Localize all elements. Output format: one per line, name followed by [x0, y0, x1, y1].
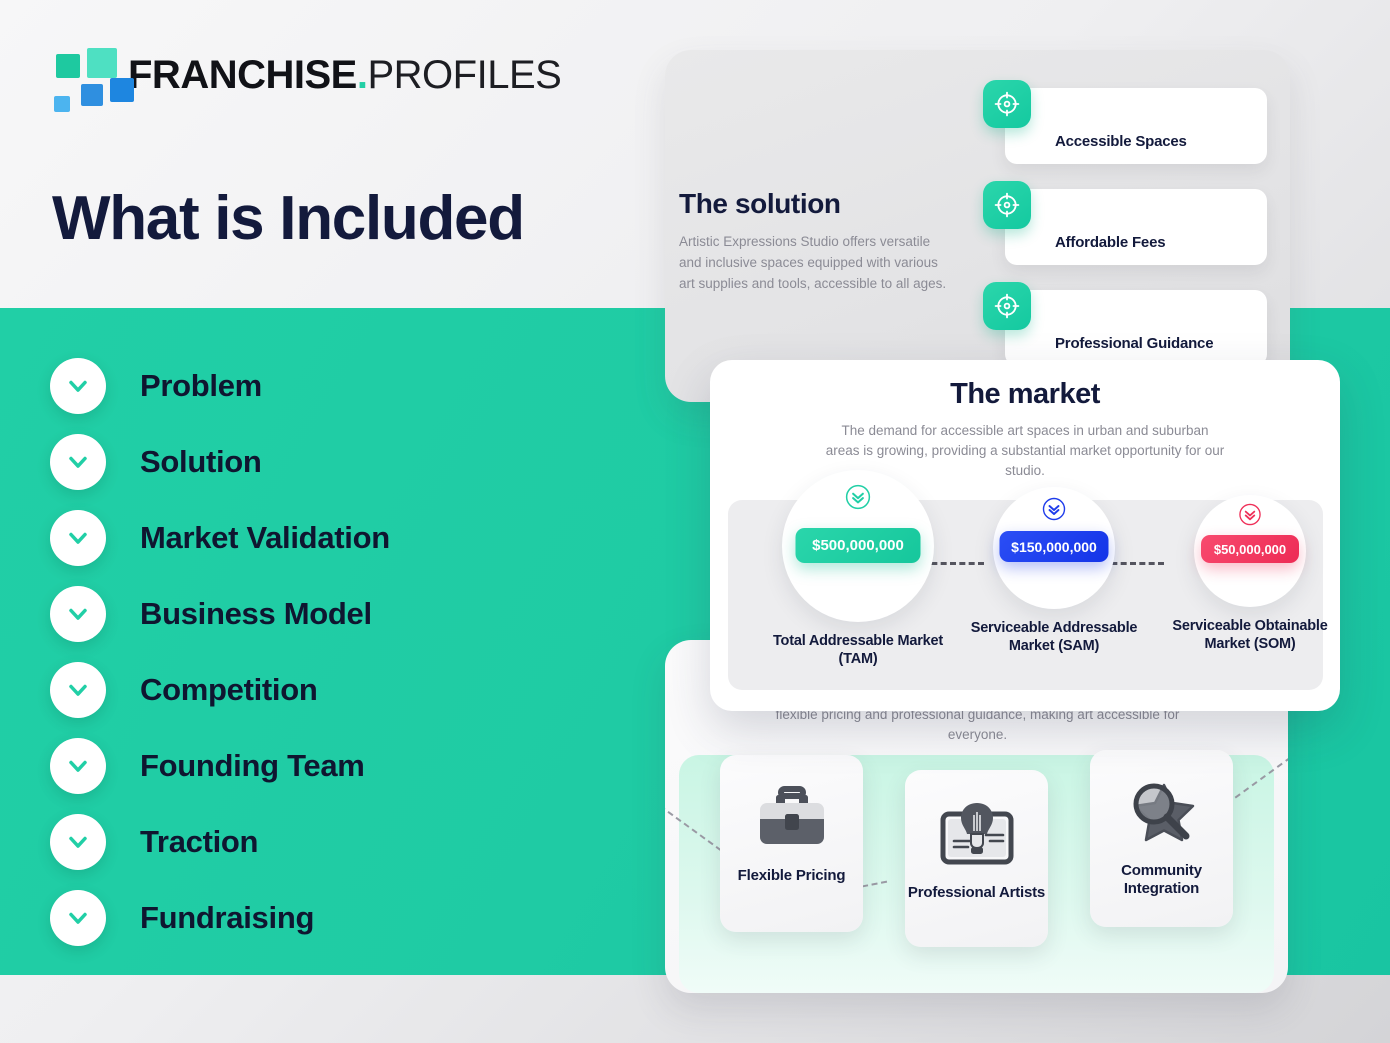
briefcase-icon — [755, 779, 829, 857]
market-column-label: Total Addressable Market (TAM) — [753, 632, 963, 668]
feature-pill: Affordable Fees — [1005, 189, 1267, 265]
checklist-item-label: Market Validation — [140, 520, 390, 556]
solution-title: The solution — [679, 188, 841, 220]
checklist-item-founding-team[interactable]: Founding Team — [50, 728, 610, 804]
chevron-down-icon — [50, 738, 106, 794]
market-column-label: Serviceable Obtainable Market (SOM) — [1152, 617, 1348, 653]
checklist: Problem Solution Market Validation Busin… — [50, 348, 610, 956]
chevron-down-icon — [50, 358, 106, 414]
brand-logo: FRANCHISE.PROFILES — [48, 48, 561, 102]
checklist-item-market-validation[interactable]: Market Validation — [50, 500, 610, 576]
market-value-badge: $150,000,000 — [1000, 531, 1109, 562]
bottom-card-community-integration[interactable]: Community Integration — [1090, 750, 1233, 927]
squares-logo-icon — [48, 48, 110, 102]
market-bubble: $150,000,000 — [993, 487, 1115, 609]
bottom-card-label: Community Integration — [1090, 862, 1233, 898]
market-column-tam[interactable]: $500,000,000 Total Addressable Market (T… — [753, 470, 963, 668]
solution-card: The solution Artistic Expressions Studio… — [665, 50, 1290, 402]
bottom-card-flexible-pricing[interactable]: Flexible Pricing — [720, 755, 863, 932]
feature-affordable-fees[interactable]: Affordable Fees — [983, 181, 1273, 282]
chevron-down-icon — [50, 662, 106, 718]
brand-name-bold: FRANCHISE — [128, 53, 357, 97]
chevron-down-icon — [50, 510, 106, 566]
target-icon — [983, 282, 1031, 330]
brand-name-dot: . — [357, 53, 368, 97]
page-title: What is Included — [52, 186, 524, 251]
star-magnifier-icon — [1124, 774, 1200, 852]
checklist-item-label: Traction — [140, 824, 258, 860]
chevron-down-icon — [50, 434, 106, 490]
checklist-item-traction[interactable]: Traction — [50, 804, 610, 880]
market-column-som[interactable]: $50,000,000 Serviceable Obtainable Marke… — [1152, 495, 1348, 653]
chevron-down-icon — [50, 890, 106, 946]
feature-label: Professional Guidance — [1055, 335, 1213, 352]
checklist-item-label: Founding Team — [140, 748, 365, 784]
chevron-down-icon — [50, 586, 106, 642]
checklist-item-fundraising[interactable]: Fundraising — [50, 880, 610, 956]
checklist-item-label: Business Model — [140, 596, 372, 632]
checklist-item-solution[interactable]: Solution — [50, 424, 610, 500]
market-bubble: $50,000,000 — [1194, 495, 1306, 607]
feature-pill: Professional Guidance — [1005, 290, 1267, 366]
market-bubble: $500,000,000 — [782, 470, 934, 622]
double-chevron-down-icon — [1239, 503, 1262, 531]
brand-name-light: PROFILES — [367, 53, 561, 97]
solution-description: Artistic Expressions Studio offers versa… — [679, 232, 951, 295]
checklist-item-business-model[interactable]: Business Model — [50, 576, 610, 652]
market-value-badge: $50,000,000 — [1201, 535, 1299, 563]
feature-label: Accessible Spaces — [1055, 133, 1187, 150]
double-chevron-down-icon — [845, 484, 871, 515]
bottom-card-label: Flexible Pricing — [738, 867, 846, 885]
feature-label: Affordable Fees — [1055, 234, 1165, 251]
bottom-card-label: Professional Artists — [908, 884, 1045, 902]
bottom-card-description: flexible pricing and professional guidan… — [745, 705, 1210, 746]
brand-wordmark: FRANCHISE.PROFILES — [128, 55, 561, 95]
market-card: The market The demand for accessible art… — [710, 360, 1340, 711]
bottom-card-professional-artists[interactable]: Professional Artists — [905, 770, 1048, 947]
double-chevron-down-icon — [1042, 497, 1066, 526]
market-chart: $500,000,000 Total Addressable Market (T… — [728, 500, 1323, 690]
market-column-sam[interactable]: $150,000,000 Serviceable Addressable Mar… — [956, 487, 1152, 655]
checklist-item-competition[interactable]: Competition — [50, 652, 610, 728]
feature-pill: Accessible Spaces — [1005, 88, 1267, 164]
lightbulb-board-icon — [939, 794, 1015, 872]
market-title: The market — [710, 378, 1340, 411]
checklist-item-label: Solution — [140, 444, 262, 480]
target-icon — [983, 181, 1031, 229]
checklist-item-label: Fundraising — [140, 900, 314, 936]
checklist-item-label: Problem — [140, 368, 262, 404]
feature-accessible-spaces[interactable]: Accessible Spaces — [983, 80, 1273, 181]
chevron-down-icon — [50, 814, 106, 870]
solution-feature-list: Accessible Spaces Affordable Fees Profes… — [983, 80, 1273, 383]
target-icon — [983, 80, 1031, 128]
market-column-label: Serviceable Addressable Market (SAM) — [956, 619, 1152, 655]
checklist-item-label: Competition — [140, 672, 318, 708]
checklist-item-problem[interactable]: Problem — [50, 348, 610, 424]
market-value-badge: $500,000,000 — [796, 528, 921, 563]
